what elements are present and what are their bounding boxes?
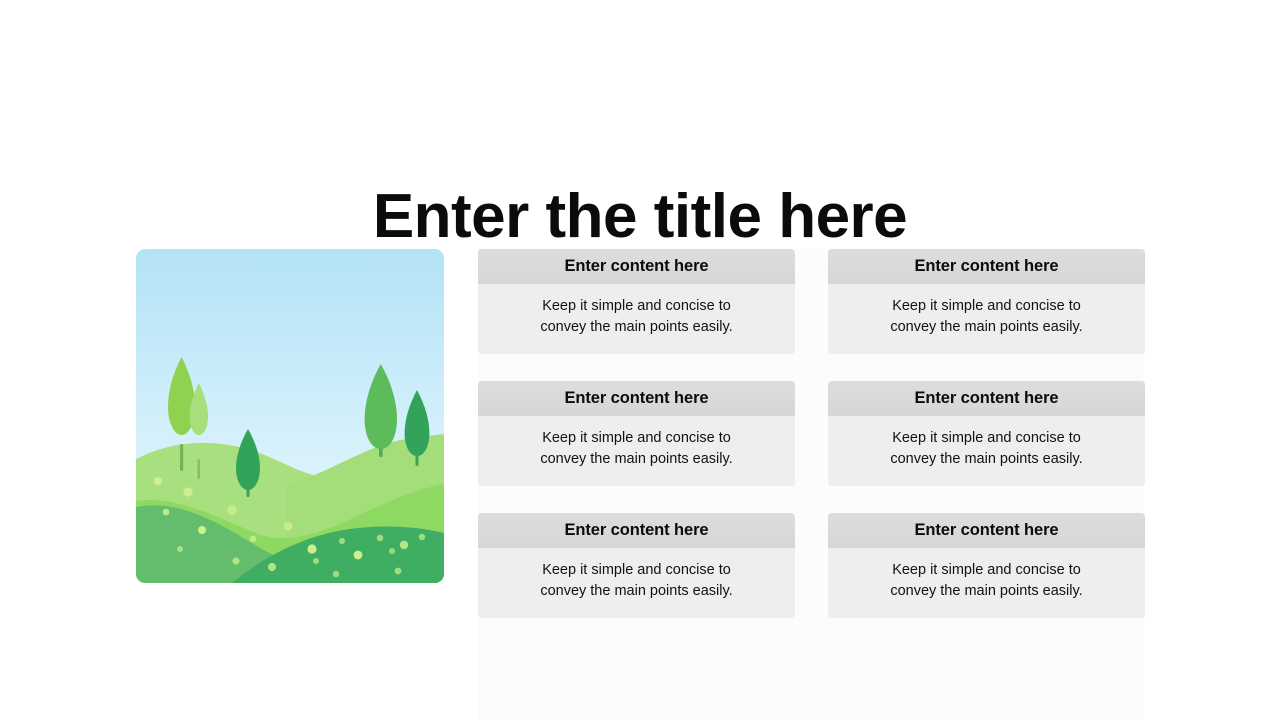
card-body-line-2: convey the main points easily. [498, 317, 775, 338]
card-body-line-1: Keep it simple and concise to [848, 296, 1125, 317]
card-header: Enter content here [478, 513, 795, 548]
card-body-line-2: convey the main points easily. [848, 581, 1125, 602]
landscape-illustration [136, 249, 444, 583]
card-header: Enter content here [478, 381, 795, 416]
card-body-line-2: convey the main points easily. [498, 449, 775, 470]
card-body-line-2: convey the main points easily. [498, 581, 775, 602]
card-body-line-1: Keep it simple and concise to [498, 560, 775, 581]
card-body-line-1: Keep it simple and concise to [498, 428, 775, 449]
slide-canvas: Enter the title here [0, 0, 1280, 720]
card-body: Keep it simple and concise to convey the… [828, 416, 1145, 486]
content-cards-grid: Enter content here Keep it simple and co… [478, 249, 1145, 618]
content-card[interactable]: Enter content here Keep it simple and co… [478, 513, 795, 618]
card-body-line-2: convey the main points easily. [848, 317, 1125, 338]
card-body: Keep it simple and concise to convey the… [478, 548, 795, 618]
card-header: Enter content here [478, 249, 795, 284]
landscape-illustration-svg [136, 249, 444, 583]
card-body: Keep it simple and concise to convey the… [478, 284, 795, 354]
card-header: Enter content here [828, 381, 1145, 416]
page-title: Enter the title here [0, 179, 1280, 255]
card-body-line-2: convey the main points easily. [848, 449, 1125, 470]
card-body-line-1: Keep it simple and concise to [848, 428, 1125, 449]
card-header: Enter content here [828, 249, 1145, 284]
card-body: Keep it simple and concise to convey the… [478, 416, 795, 486]
card-body-line-1: Keep it simple and concise to [498, 296, 775, 317]
content-card[interactable]: Enter content here Keep it simple and co… [828, 381, 1145, 486]
content-card[interactable]: Enter content here Keep it simple and co… [478, 249, 795, 354]
card-header: Enter content here [828, 513, 1145, 548]
content-card[interactable]: Enter content here Keep it simple and co… [828, 513, 1145, 618]
card-body: Keep it simple and concise to convey the… [828, 548, 1145, 618]
card-body-line-1: Keep it simple and concise to [848, 560, 1125, 581]
content-card[interactable]: Enter content here Keep it simple and co… [478, 381, 795, 486]
content-card[interactable]: Enter content here Keep it simple and co… [828, 249, 1145, 354]
card-body: Keep it simple and concise to convey the… [828, 284, 1145, 354]
